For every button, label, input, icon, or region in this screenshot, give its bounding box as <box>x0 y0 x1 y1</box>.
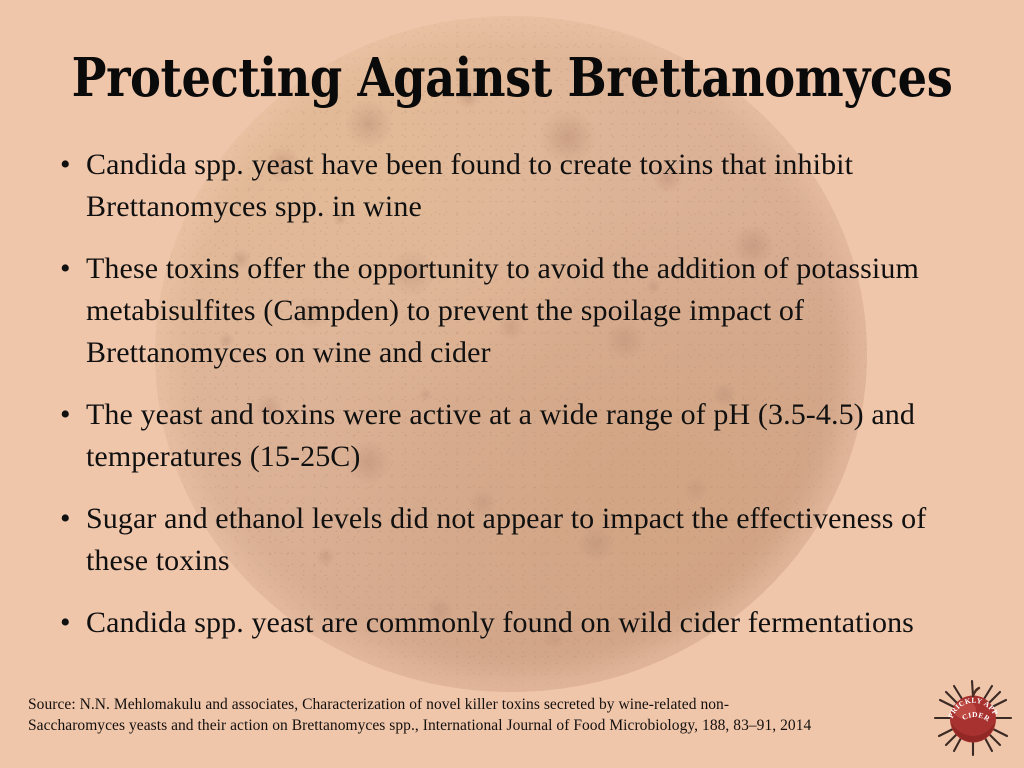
slide: Protecting Against Brettanomyces • Candi… <box>0 0 1024 768</box>
slide-content: Protecting Against Brettanomyces • Candi… <box>0 0 1024 768</box>
prickly-apple-cider-logo: PRICKLY APPLE CIDER <box>930 674 1016 760</box>
list-item: • The yeast and toxins were active at a … <box>56 394 986 478</box>
bullet-marker-icon: • <box>56 498 86 540</box>
list-item: • Sugar and ethanol levels did not appea… <box>56 498 986 582</box>
bullet-marker-icon: • <box>56 248 86 290</box>
list-item-text: Candida spp. yeast have been found to cr… <box>86 144 986 228</box>
source-citation: Source: N.N. Mehlomakulu and associates,… <box>28 694 928 736</box>
list-item: • Candida spp. yeast are commonly found … <box>56 602 986 644</box>
bullet-list: • Candida spp. yeast have been found to … <box>56 144 986 664</box>
list-item-text: Sugar and ethanol levels did not appear … <box>86 498 941 582</box>
bullet-marker-icon: • <box>56 144 86 186</box>
source-line-2: Saccharomyces yeasts and their action on… <box>28 715 928 736</box>
list-item: • Candida spp. yeast have been found to … <box>56 144 986 228</box>
bullet-marker-icon: • <box>56 394 86 436</box>
page-title: Protecting Against Brettanomyces <box>64 48 960 108</box>
list-item-text: The yeast and toxins were active at a wi… <box>86 394 986 478</box>
list-item-text: These toxins offer the opportunity to av… <box>86 248 941 374</box>
bullet-marker-icon: • <box>56 602 86 644</box>
apple-stem <box>973 688 979 696</box>
source-line-1: Source: N.N. Mehlomakulu and associates,… <box>28 694 928 715</box>
list-item-text: Candida spp. yeast are commonly found on… <box>86 602 941 644</box>
list-item: • These toxins offer the opportunity to … <box>56 248 986 374</box>
